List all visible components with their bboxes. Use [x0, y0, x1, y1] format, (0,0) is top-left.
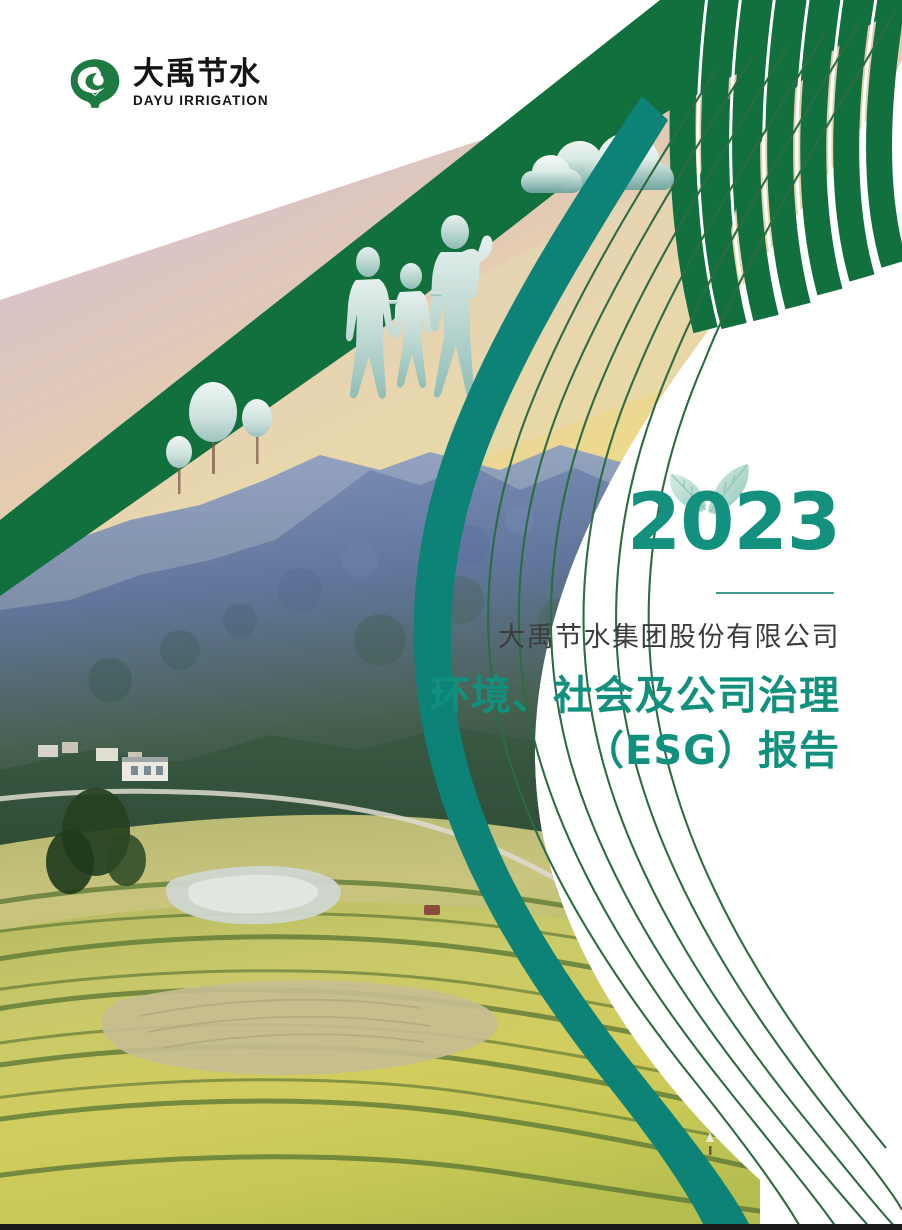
- logo-company-cn: 大禹节水: [133, 59, 269, 90]
- cover-title-block: 2023 大禹节水集团股份有限公司 环境、社会及公司治理 （ESG）报告: [420, 480, 840, 778]
- company-full-name: 大禹节水集团股份有限公司: [420, 615, 840, 654]
- vehicle: [424, 905, 440, 915]
- company-logo[interactable]: 大禹节水 DAYU IRRIGATION: [68, 56, 269, 110]
- title-divider-row: [420, 566, 840, 599]
- report-title-line-2: （ESG）报告: [420, 725, 840, 778]
- dayu-leaf-droplet-mark: [68, 56, 122, 110]
- logo-company-en: DAYU IRRIGATION: [133, 94, 269, 108]
- title-divider: [716, 592, 834, 594]
- report-cover-page: 大禹节水 DAYU IRRIGATION: [0, 0, 902, 1230]
- report-year: 2023: [627, 478, 840, 568]
- year-row: 2023: [420, 480, 840, 566]
- report-title-line-1: 环境、社会及公司治理: [420, 670, 840, 723]
